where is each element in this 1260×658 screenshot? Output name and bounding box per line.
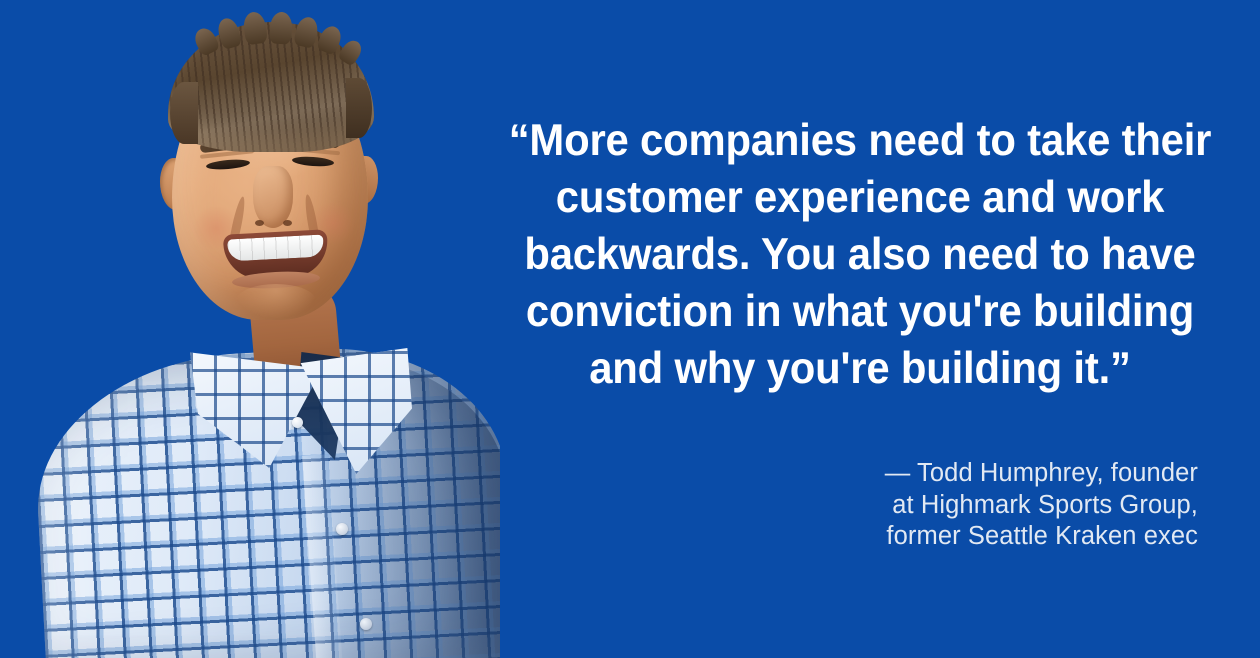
teeth	[227, 235, 324, 262]
quote-block: “More companies need to take their custo…	[486, 112, 1234, 397]
nose	[253, 166, 293, 228]
hair-spike	[269, 11, 293, 44]
nostril-left	[255, 220, 264, 226]
nostril-right	[283, 220, 292, 226]
portrait-photo	[0, 0, 500, 658]
quote-text: “More companies need to take their custo…	[508, 112, 1211, 397]
shirt-button-lower	[360, 618, 372, 630]
shirt-button-middle	[336, 523, 348, 535]
quote-card: “More companies need to take their custo…	[0, 0, 1260, 658]
hair-temple-left	[170, 82, 198, 144]
hair-spike	[242, 11, 268, 46]
quote-attribution: — Todd Humphrey, founder at Highmark Spo…	[486, 458, 1198, 553]
collar-button	[292, 417, 303, 428]
hair-temple-right	[346, 78, 372, 138]
chin	[236, 284, 316, 318]
